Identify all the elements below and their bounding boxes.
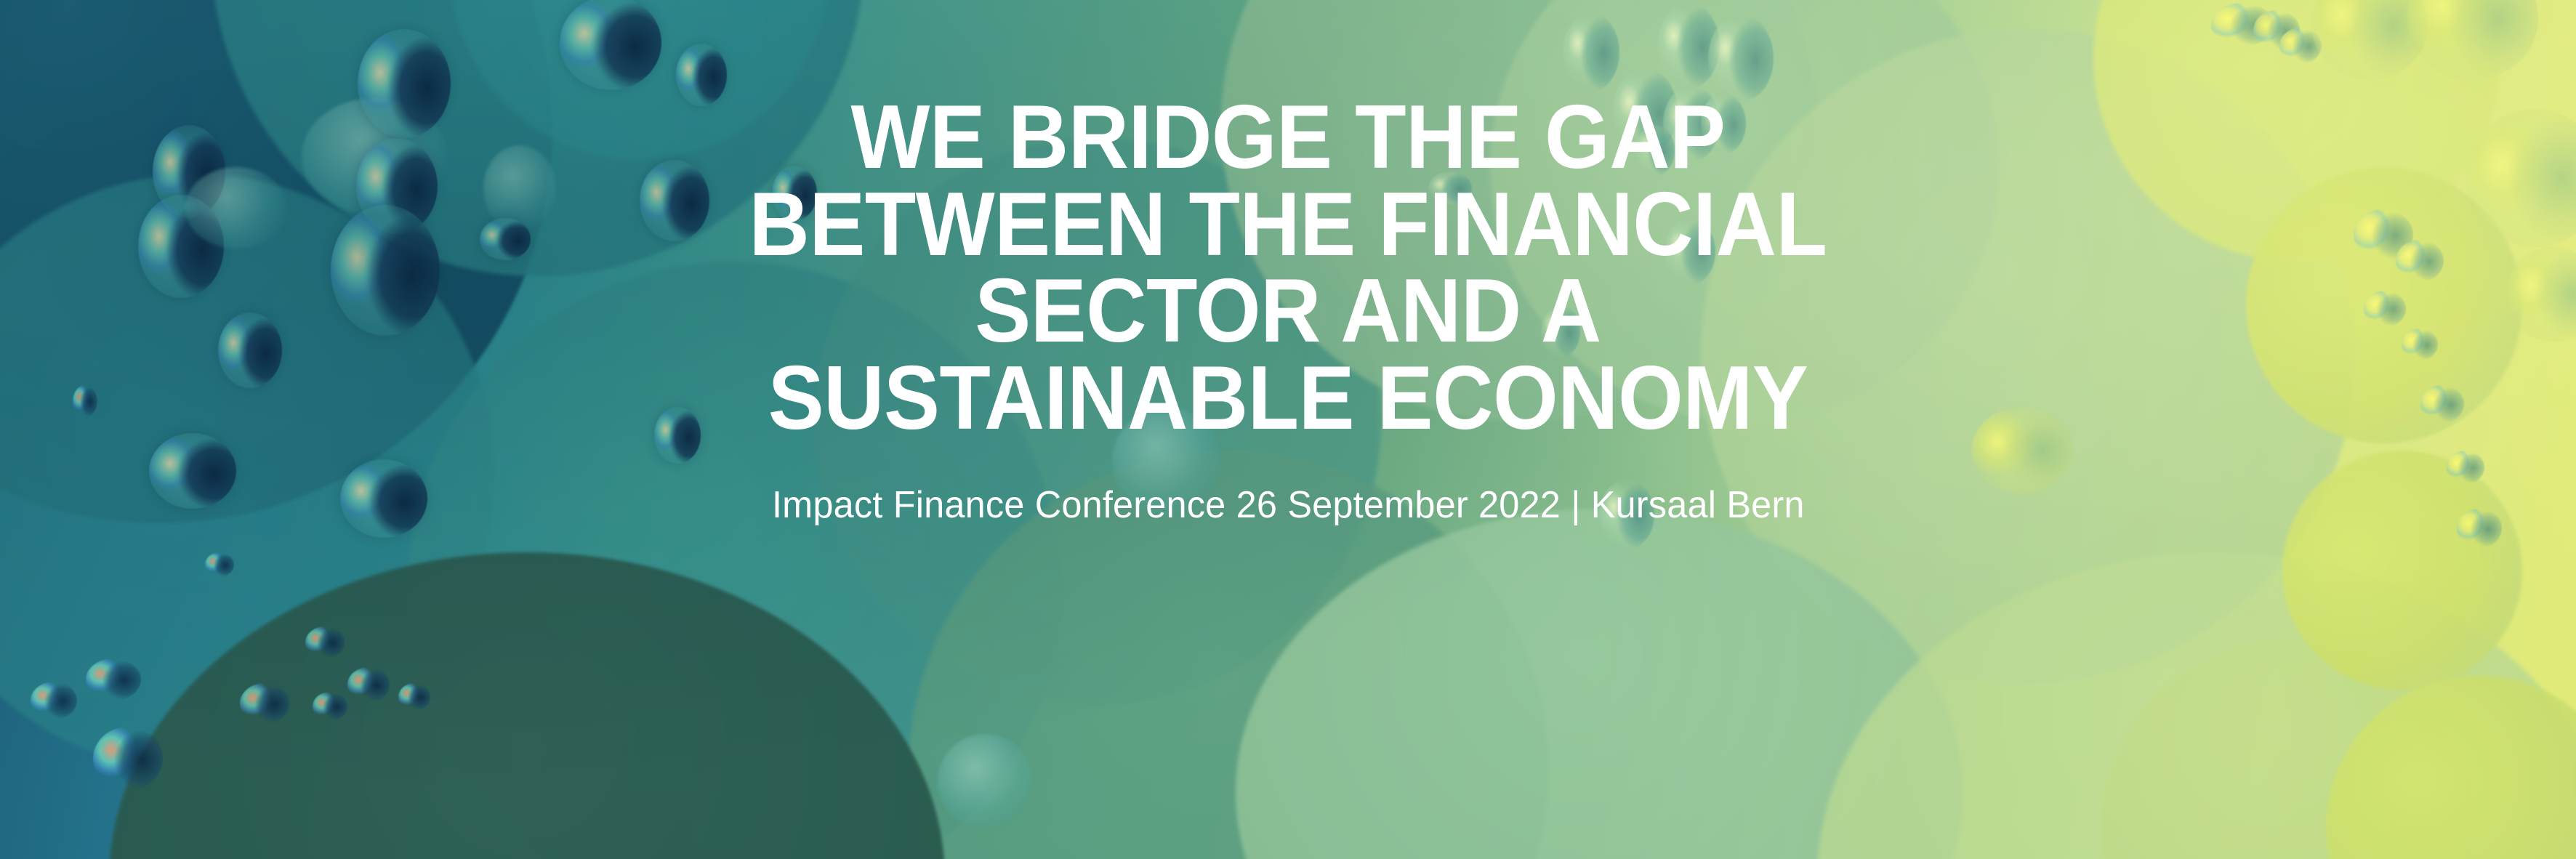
droplet-small-10 — [73, 385, 97, 417]
droplet-teal-1 — [358, 29, 451, 138]
bubble-teal-soft-3 — [185, 167, 287, 249]
droplet-teal-6 — [772, 166, 817, 221]
droplet-teal-9 — [676, 44, 727, 106]
droplet-green-9 — [1541, 305, 1580, 358]
droplet-small-4 — [240, 683, 289, 724]
droplet-small-8 — [398, 683, 430, 711]
droplet-green-3 — [1708, 15, 1774, 102]
droplet-small-5 — [305, 626, 345, 658]
droplet-green-1 — [1563, 13, 1619, 92]
droplet-small-1 — [31, 682, 77, 719]
droplet-yellow-small-7 — [2402, 328, 2438, 360]
droplet-yellow-5 — [1971, 407, 2073, 494]
droplet-green-6 — [1701, 93, 1746, 154]
bubble-large-yellow-2 — [2282, 451, 2522, 690]
droplet-green-7 — [1635, 125, 1675, 176]
droplet-yellow-small-5 — [2396, 240, 2444, 282]
droplet-yellow-small-6 — [2364, 291, 2406, 327]
droplet-green-8 — [1665, 218, 1715, 285]
droplet-yellow-small-9 — [2447, 451, 2484, 484]
droplet-teal-2 — [560, 0, 661, 90]
droplet-teal-13 — [480, 218, 531, 260]
conference-hero-banner: WE BRIDGE THE GAP BETWEEN THE FINANCIAL … — [0, 0, 2576, 859]
droplet-yellow-small-10 — [2457, 509, 2502, 548]
droplet-teal-5 — [640, 160, 709, 241]
droplet-small-6 — [313, 692, 347, 721]
droplet-green-10 — [1599, 480, 1654, 549]
droplet-teal-12 — [340, 459, 427, 538]
bubble-green-soft-2 — [938, 734, 1032, 828]
bubble-background-layer — [0, 0, 2576, 859]
bubble-teal-soft-2 — [483, 145, 556, 231]
bubble-green-soft-1 — [1112, 407, 1221, 516]
droplet-small-9 — [205, 552, 234, 577]
droplet-small-2 — [86, 658, 141, 701]
droplet-small-3 — [93, 727, 163, 791]
droplet-teal-7 — [331, 205, 440, 336]
droplet-teal-14 — [654, 407, 701, 464]
droplet-green-11 — [1428, 172, 1472, 205]
droplet-yellow-small-8 — [2420, 385, 2464, 423]
droplet-teal-11 — [149, 433, 236, 509]
droplet-teal-10 — [218, 312, 282, 388]
droplet-small-7 — [347, 667, 390, 702]
